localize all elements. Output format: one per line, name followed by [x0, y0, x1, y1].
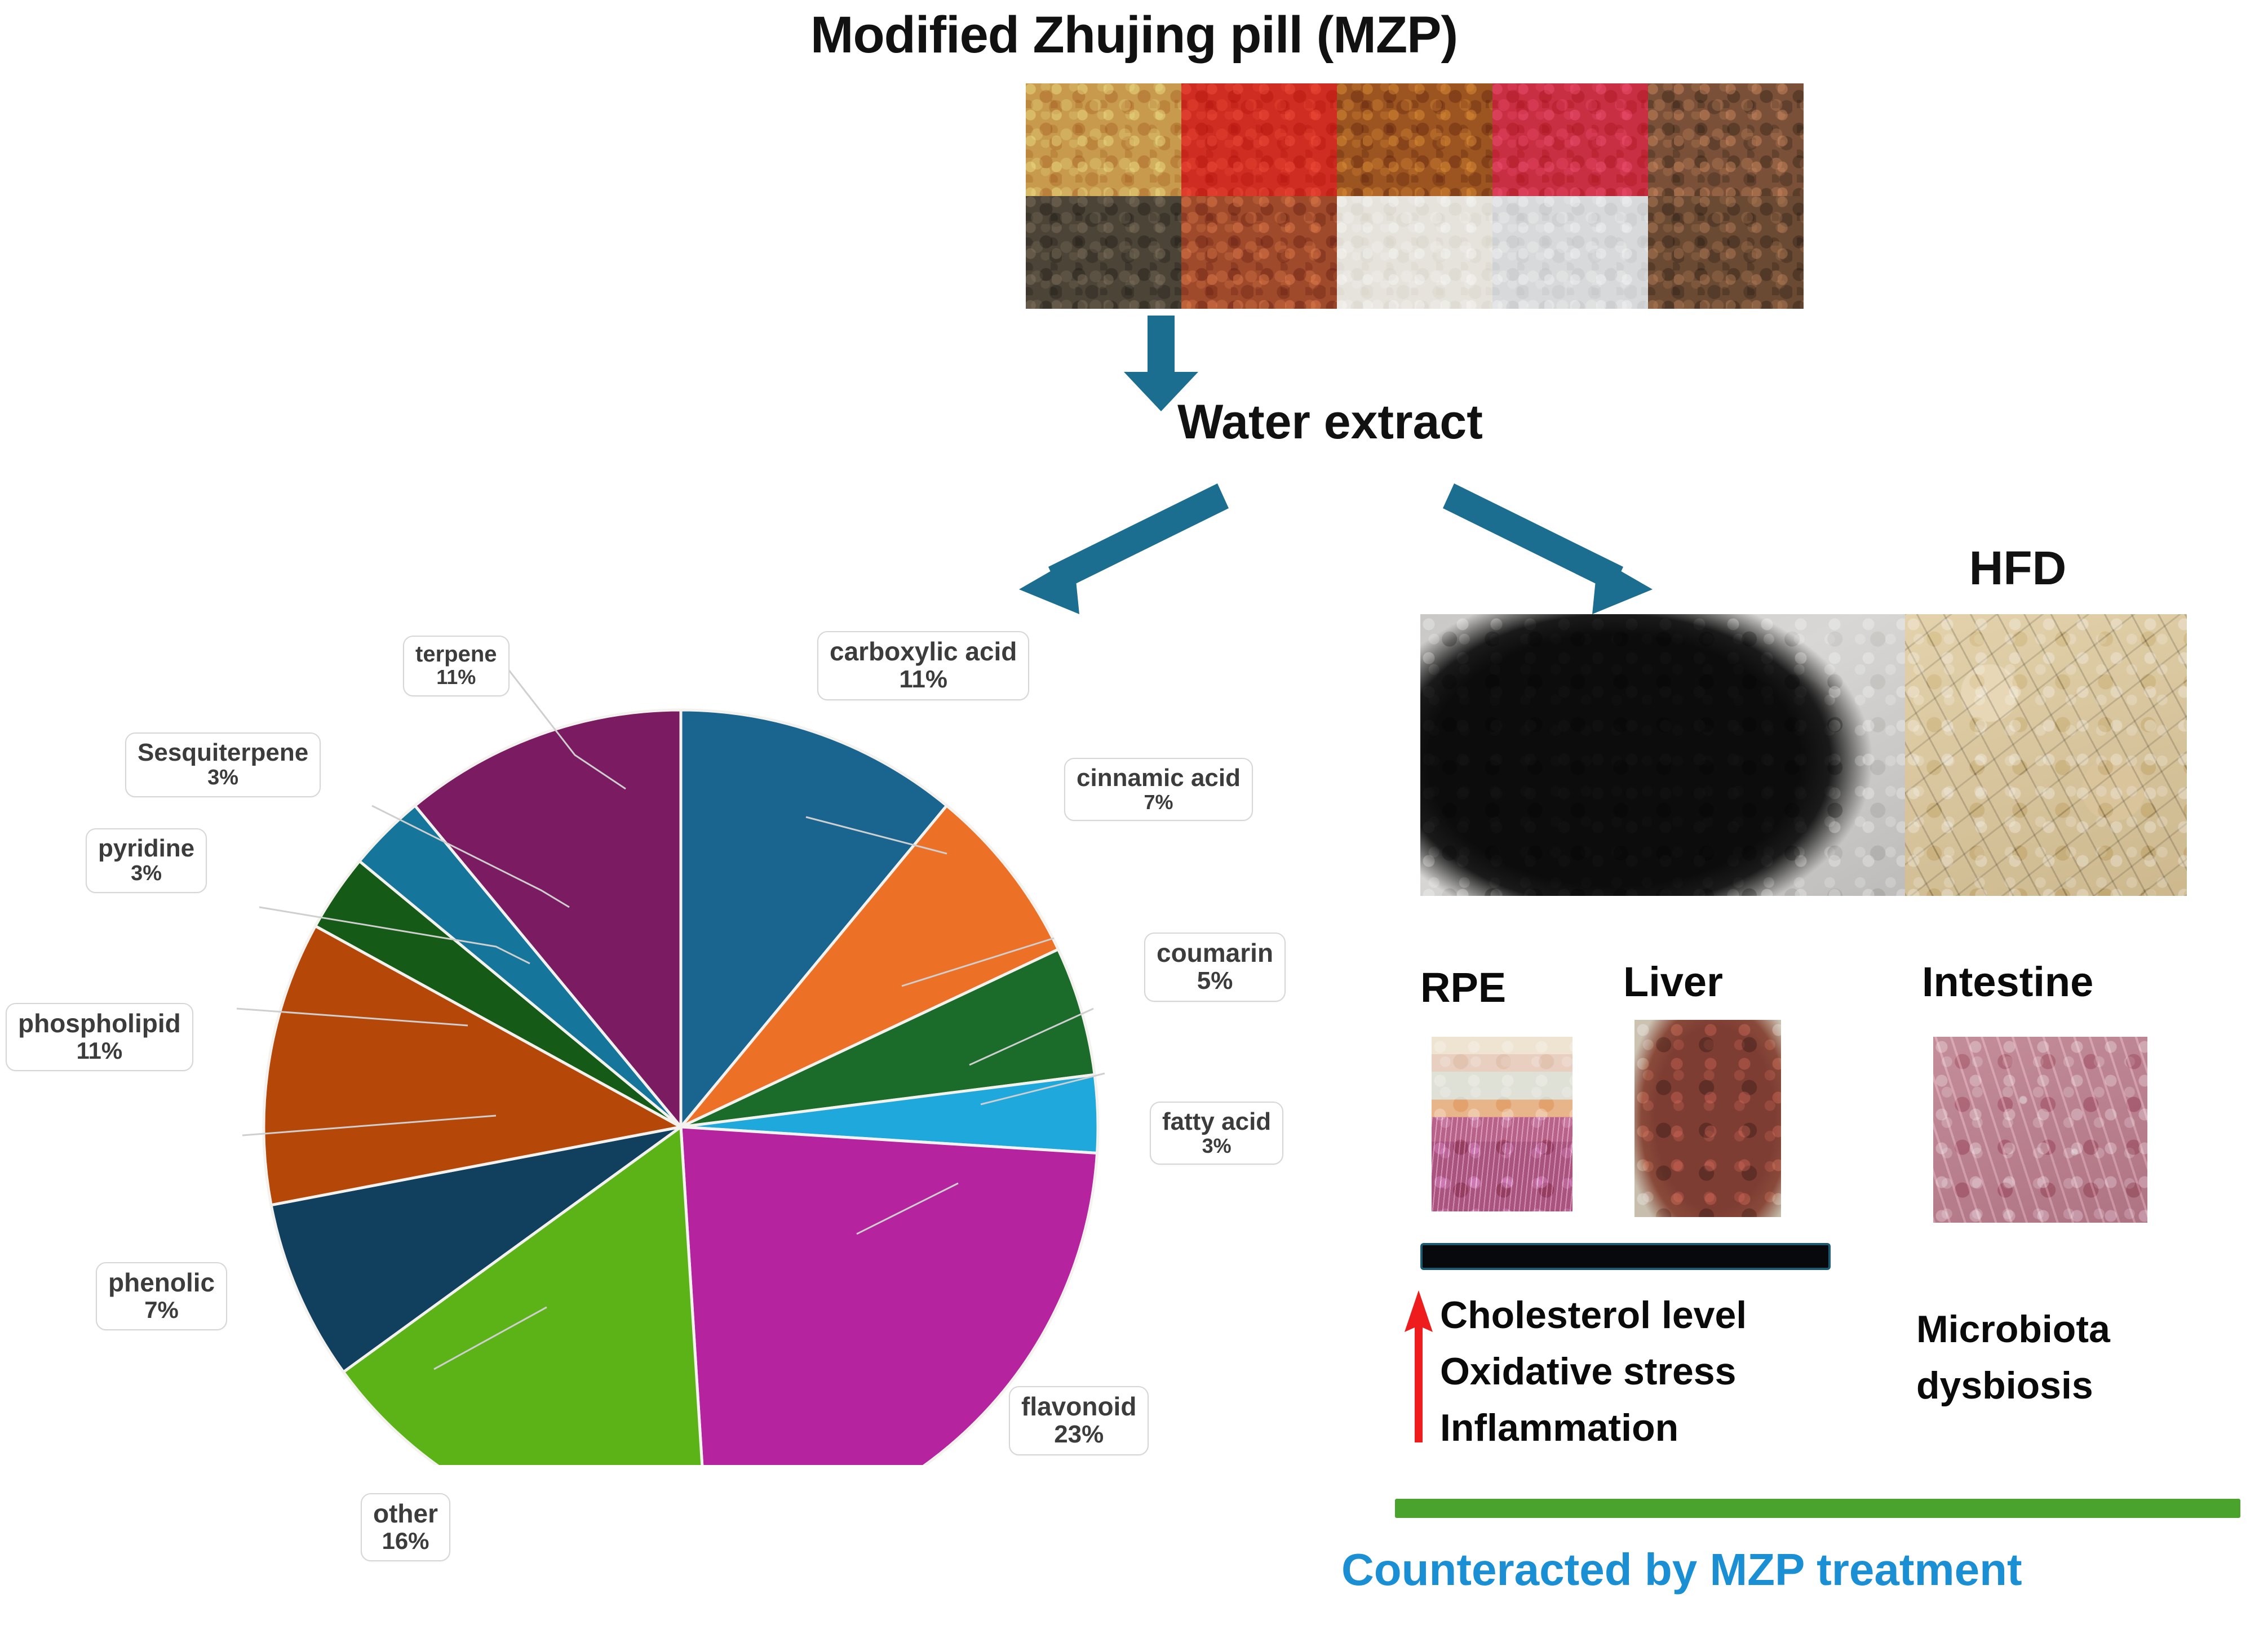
pie-label-coumarin: coumarin 5% — [1144, 933, 1286, 1002]
herb-red-berries — [1492, 83, 1648, 196]
microbiota-dysbiosis-line-1: Microbiota — [1916, 1307, 2110, 1351]
increase-up-arrow-icon — [1399, 1290, 1438, 1442]
outcome-inflammation: Inflammation — [1440, 1409, 1678, 1447]
rpe-label: RPE — [1420, 964, 1506, 1011]
herb-grey-mineral — [1492, 196, 1648, 309]
herb-dark-seeds — [1026, 196, 1181, 309]
outcome-cholesterol-level: Cholesterol level — [1440, 1296, 1747, 1334]
arrow-to-mouse-model — [1443, 479, 1680, 620]
hfd-label: HFD — [1882, 541, 2153, 596]
pie-label-cinnamic-acid: cinnamic acid 7% — [1064, 758, 1253, 821]
arrow-to-pie-chart — [992, 479, 1229, 620]
herb-brown-grain — [1337, 83, 1492, 196]
herb-dark-bark — [1648, 196, 1804, 309]
herb-ingredient-photos — [1026, 83, 1804, 309]
water-extract-label: Water extract — [1116, 394, 1544, 450]
herb-brown-roots — [1648, 83, 1804, 196]
final-caption: Counteracted by MZP treatment — [1341, 1544, 2268, 1596]
herb-orange-bark — [1181, 196, 1337, 309]
rpe-histology-photo — [1432, 1037, 1572, 1211]
intestine-label: Intestine — [1922, 958, 2093, 1006]
liver-label: Liver — [1623, 958, 1723, 1006]
pie-label-carboxylic-acid: carboxylic acid 11% — [817, 631, 1029, 700]
microbiota-dysbiosis-line-2: dysbiosis — [1916, 1364, 2093, 1408]
pie-label-phenolic: phenolic 7% — [96, 1262, 227, 1330]
pie-label-phospholipid: phospholipid 11% — [6, 1003, 193, 1071]
herb-red-fruit — [1181, 83, 1337, 196]
herb-white-powder — [1337, 196, 1492, 309]
herb-seeds-yellow — [1026, 83, 1181, 196]
pie-label-flavonoid: flavonoid 23% — [1009, 1386, 1149, 1455]
pie-label-sesquiterpene: Sesquiterpene 3% — [125, 732, 321, 797]
mouse-photo — [1420, 614, 1905, 896]
high-fat-diet-pellets-photo — [1905, 614, 2187, 896]
organ-group-bar — [1420, 1243, 1831, 1270]
pie-label-other: other 16% — [361, 1493, 450, 1561]
mzp-treatment-bar — [1395, 1499, 2240, 1518]
intestine-photo — [1933, 1037, 2147, 1223]
liver-photo — [1634, 1020, 1781, 1217]
pie-label-pyridine: pyridine 3% — [86, 828, 207, 893]
outcome-oxidative-stress: Oxidative stress — [1440, 1352, 1736, 1391]
pie-label-fatty-acid: fatty acid 3% — [1150, 1102, 1283, 1165]
page-title: Modified Zhujing pill (MZP) — [0, 6, 2268, 65]
pie-label-terpene: terpene 11% — [403, 636, 510, 696]
